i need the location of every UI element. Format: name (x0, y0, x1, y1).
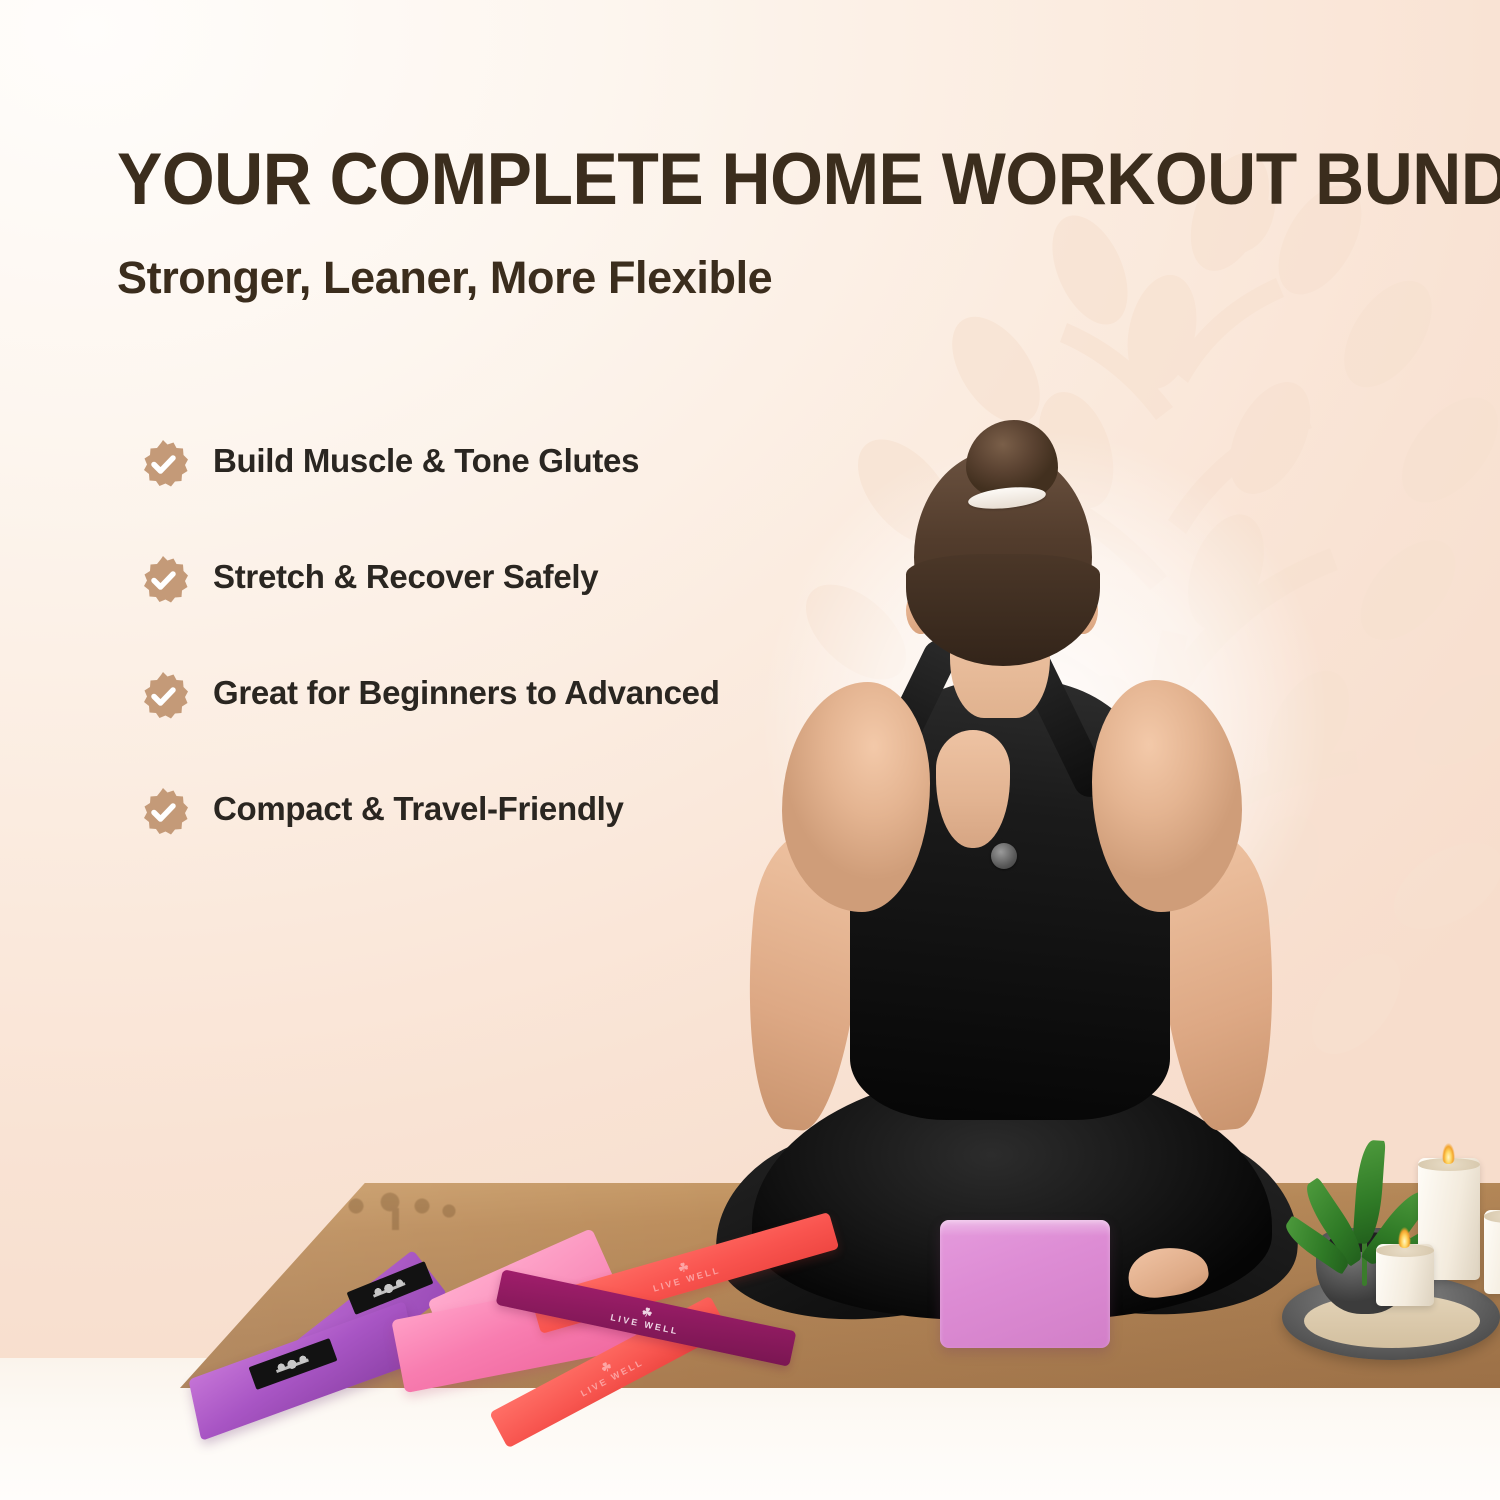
tea-light-candle (1376, 1244, 1434, 1306)
check-badge-icon (138, 555, 188, 605)
list-item: Great for Beginners to Advanced (138, 669, 778, 721)
page-subtitle: Stronger, Leaner, More Flexible (117, 252, 772, 304)
tree-logo-icon: ☘ (612, 1299, 683, 1326)
candle-flame-icon (1398, 1224, 1411, 1248)
list-item: Build Muscle & Tone Glutes (138, 437, 778, 489)
check-badge-icon (138, 671, 188, 721)
loop-band-maroon: ☘ LIVE WELL (496, 1269, 797, 1367)
brand-name: LIVE WELL (579, 1357, 645, 1399)
fabric-band-pink (391, 1273, 651, 1393)
band-brand-print: ☘ LIVE WELL (610, 1299, 683, 1336)
mat-sheen (180, 1183, 1500, 1388)
model-right-shoulder (1092, 680, 1242, 912)
mat-brand-emboss-icon (330, 1188, 480, 1232)
model-right-arm (1149, 826, 1287, 1135)
tank-strap-right (1008, 635, 1113, 803)
benefits-list: Build Muscle & Tone Glutes Stretch & Rec… (138, 437, 778, 837)
check-badge-icon (138, 787, 188, 837)
model-torso-tank-top (850, 680, 1170, 1120)
check-badge-icon (138, 439, 188, 489)
fabric-band-pink-loop (427, 1228, 617, 1358)
band-brand-print: ☘ LIVE WELL (573, 1345, 645, 1398)
plant-pot (1316, 1228, 1414, 1314)
promo-banner: ☘ LIVE WELL ☘ LIVE WELL ☘ LIVE WELL YOUR… (0, 0, 1500, 1500)
tank-strap-left (857, 635, 962, 803)
plant-stem (1362, 1214, 1367, 1286)
loop-band-red-upper: ☘ LIVE WELL (531, 1212, 839, 1334)
model-right-leg (990, 1107, 1311, 1332)
yoga-model-figure (700, 430, 1320, 1360)
model-left-arm (735, 826, 871, 1134)
model-right-ear (1068, 590, 1098, 634)
benefit-label: Build Muscle & Tone Glutes (213, 437, 639, 482)
tree-of-life-watermark-icon (760, 120, 1500, 1180)
model-neck (950, 598, 1050, 718)
plant-leaf-icon (1298, 1177, 1369, 1267)
floor-surface (0, 1358, 1500, 1500)
model-left-ear (906, 590, 936, 634)
benefit-label: Great for Beginners to Advanced (213, 669, 720, 714)
pillar-candle-right (1484, 1210, 1500, 1294)
loop-band-red-lower: ☘ LIVE WELL (489, 1296, 729, 1449)
plant-leaf-icon (1352, 1139, 1385, 1245)
resistance-bands-group: ☘ LIVE WELL ☘ LIVE WELL ☘ LIVE WELL (178, 1190, 798, 1420)
list-item: Compact & Travel-Friendly (138, 785, 778, 837)
plant-leaf-icon (1361, 1185, 1433, 1271)
tree-logo-icon: ☘ (573, 1345, 640, 1389)
background-glow (700, 280, 1500, 1200)
model-left-leg (704, 1113, 1015, 1337)
tree-logo-icon: ☘ (648, 1252, 718, 1283)
yoga-mat (180, 1183, 1500, 1388)
band-brand-print: ☘ LIVE WELL (648, 1252, 721, 1293)
model-foot (1125, 1243, 1211, 1302)
model-hair-bun (966, 420, 1058, 502)
brand-name: LIVE WELL (652, 1264, 722, 1293)
list-item: Stretch & Recover Safely (138, 553, 778, 605)
tray-inner-surface (1304, 1294, 1480, 1348)
spa-decor-group (1300, 1030, 1500, 1360)
model-hair (914, 450, 1092, 656)
fabric-band-purple-loop (295, 1250, 448, 1386)
band-label-lower (248, 1338, 337, 1390)
candle-flame-icon (1442, 1140, 1455, 1164)
brand-name: LIVE WELL (610, 1312, 680, 1336)
tank-top-keyhole (936, 730, 1010, 848)
page-title: YOUR COMPLETE HOME WORKOUT BUNDLE (117, 143, 1289, 216)
benefit-label: Compact & Travel-Friendly (213, 785, 624, 830)
plant-leaf-icon (1379, 1215, 1459, 1277)
model-left-shoulder (782, 682, 930, 912)
band-label-upper (347, 1261, 434, 1315)
yoga-block (940, 1220, 1110, 1348)
hair-scrunchie (967, 484, 1047, 512)
fabric-band-purple (188, 1301, 417, 1441)
model-hips (752, 1070, 1272, 1320)
pillar-candle-large (1418, 1158, 1480, 1280)
benefit-label: Stretch & Recover Safely (213, 553, 598, 598)
stone-tray (1282, 1274, 1500, 1360)
plant-leaf-icon (1280, 1215, 1354, 1275)
